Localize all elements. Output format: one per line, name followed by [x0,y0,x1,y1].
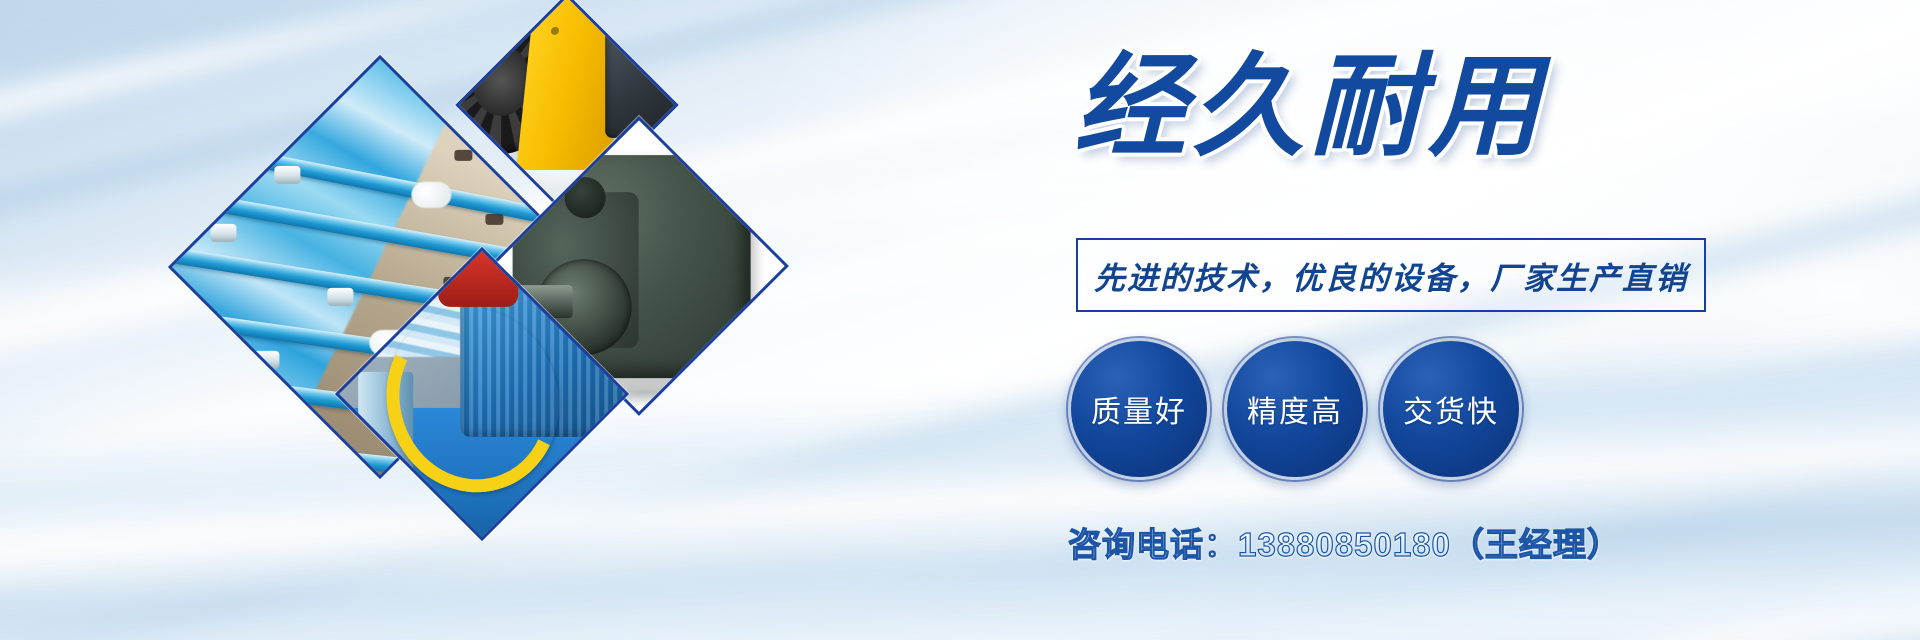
diamond-photo-collage [150,12,850,632]
subtitle-text: 先进的技术，优良的设备，厂家生产直销 [1094,253,1688,298]
badge-quality[interactable]: 质量好 [1068,338,1210,480]
contact-phone[interactable]: 咨询电话：13880850180（王经理） [1068,518,1621,566]
badge-label: 质量好 [1091,387,1187,431]
badge-label: 精度高 [1247,387,1343,431]
headline: 经久耐用 [1074,48,1546,167]
badge-delivery[interactable]: 交货快 [1380,338,1522,480]
feature-badges: 质量好 精度高 交货快 [1068,338,1522,480]
subtitle-box: 先进的技术，优良的设备，厂家生产直销 [1076,238,1706,312]
badge-precision[interactable]: 精度高 [1224,338,1366,480]
badge-label: 交货快 [1403,387,1499,431]
promo-banner: 经久耐用 先进的技术，优良的设备，厂家生产直销 质量好 精度高 交货快 咨询电话… [0,0,1920,640]
